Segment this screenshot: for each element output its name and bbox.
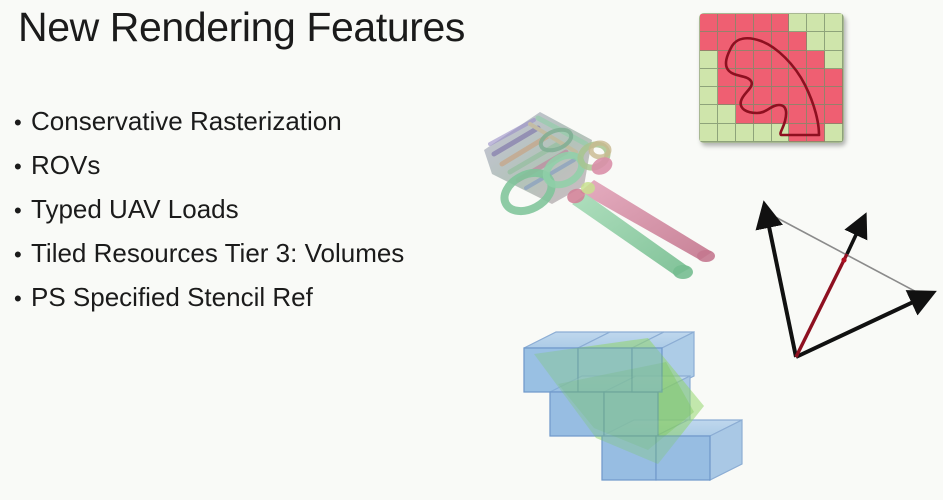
- bullet-point-icon: •: [14, 233, 31, 277]
- bullet-point-icon: •: [14, 277, 31, 321]
- list-item: • Typed UAV Loads: [14, 187, 404, 231]
- triangle-vectors-graphic: [752, 192, 943, 372]
- list-item: • ROVs: [14, 143, 404, 187]
- bullet-point-icon: •: [14, 189, 31, 233]
- list-item-label: ROVs: [31, 143, 100, 187]
- list-item-label: Conservative Rasterization: [31, 99, 342, 143]
- list-item: • Conservative Rasterization: [14, 99, 404, 143]
- list-item-label: PS Specified Stencil Ref: [31, 275, 313, 319]
- list-item-label: Typed UAV Loads: [31, 187, 239, 231]
- volume-tile-cubes-figure: [498, 288, 753, 500]
- feature-bullet-list: • Conservative Rasterization • ROVs • Ty…: [14, 99, 404, 319]
- engine-model-graphic: [468, 100, 768, 285]
- stencil-ref-triangle-figure: [752, 192, 943, 372]
- list-item: • Tiled Resources Tier 3: Volumes: [14, 231, 404, 275]
- translucent-engine-model-figure: [468, 100, 768, 285]
- presentation-slide: New Rendering Features • Conservative Ra…: [0, 0, 943, 500]
- list-item-label: Tiled Resources Tier 3: Volumes: [31, 231, 404, 275]
- voxel-cubes-graphic: [498, 288, 753, 500]
- list-item: • PS Specified Stencil Ref: [14, 275, 404, 319]
- bullet-point-icon: •: [14, 101, 31, 145]
- bullet-point-icon: •: [14, 145, 31, 189]
- page-title: New Rendering Features: [18, 4, 465, 51]
